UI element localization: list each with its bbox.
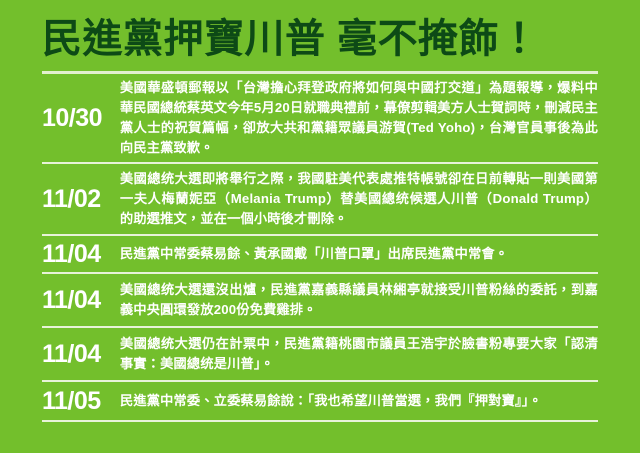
- page-title: 民進黨押寶川普 毫不掩飾！: [42, 16, 598, 62]
- timeline-entry: 11/04 美國總统大選仍在計票中，民進黨籍桃園市議員王浩宇於臉書粉專要大家「認…: [42, 328, 598, 380]
- entry-text: 美國總统大選即將舉行之際，我國駐美代表處推特帳號卻在日前轉貼一則美國第一夫人梅蘭…: [120, 169, 598, 229]
- poster-root: 民進黨押寶川普 毫不掩飾！ 10/30 美國華盛頓郵報以「台灣擔心拜登政府將如何…: [0, 0, 640, 453]
- timeline-entry: 10/30 美國華盛頓郵報以「台灣擔心拜登政府將如何與中國打交道」為題報導，爆料…: [42, 74, 598, 162]
- entry-date: 10/30: [42, 106, 120, 131]
- poster-header: 民進黨押寶川普 毫不掩飾！: [0, 0, 640, 74]
- timeline-entry: 11/04 民進黨中常委蔡易餘、黃承國戴「川普口罩」出席民進黨中常會。: [42, 236, 598, 272]
- entry-date: 11/02: [42, 187, 120, 212]
- entry-date: 11/04: [42, 242, 120, 267]
- entry-date: 11/04: [42, 288, 120, 313]
- entry-date: 11/04: [42, 342, 120, 367]
- entry-text: 民進黨中常委蔡易餘、黃承國戴「川普口罩」出席民進黨中常會。: [120, 244, 598, 264]
- entry-text: 美國總统大選還沒出爐，民進黨嘉義縣議員林緗亭就接受川普粉絲的委託，到嘉義中央圓環…: [120, 280, 598, 320]
- entry-date: 11/05: [42, 389, 120, 414]
- entry-text: 民進黨中常委、立委蔡易餘說：「我也希望川普當選，我們『押對寶』」。: [120, 391, 598, 411]
- timeline-entry: 11/02 美國總统大選即將舉行之際，我國駐美代表處推特帳號卻在日前轉貼一則美國…: [42, 164, 598, 234]
- timeline-entry: 11/05 民進黨中常委、立委蔡易餘說：「我也希望川普當選，我們『押對寶』」。: [42, 382, 598, 420]
- entry-text: 美國總统大選仍在計票中，民進黨籍桃園市議員王浩宇於臉書粉專要大家「認清事實：美國…: [120, 334, 598, 374]
- timeline-list: 10/30 美國華盛頓郵報以「台灣擔心拜登政府將如何與中國打交道」為題報導，爆料…: [0, 74, 640, 422]
- entry-text: 美國華盛頓郵報以「台灣擔心拜登政府將如何與中國打交道」為題報導，爆料中華民國總統…: [120, 78, 598, 158]
- timeline-entry: 11/04 美國總统大選還沒出爐，民進黨嘉義縣議員林緗亭就接受川普粉絲的委託，到…: [42, 274, 598, 326]
- row-divider: [42, 420, 598, 422]
